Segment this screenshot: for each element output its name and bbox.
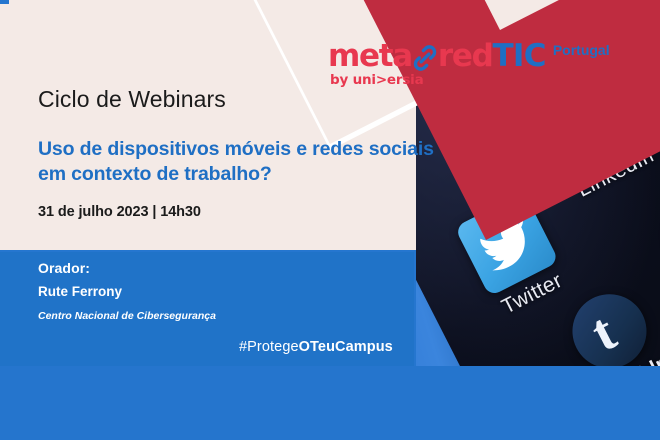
page-title: Uso de dispositivos móveis e redes socia…: [38, 137, 458, 187]
logo-meta-text: meta: [328, 38, 412, 74]
logo-byline: by uni>ersia: [330, 72, 424, 88]
webinar-poster: dia Twitter in LinkedIn: [0, 0, 660, 440]
tumblr-tile: t: [560, 281, 660, 366]
event-datetime: 31 de julho 2023 | 14h30: [38, 204, 201, 220]
campaign-hashtag: #ProtegeOTeuCampus: [239, 339, 393, 355]
hashtag-emphasis: OTeuCampus: [299, 339, 393, 355]
speaker-organization: Centro Nacional de Cibersegurança: [38, 310, 216, 322]
logo-red-text: red: [438, 38, 493, 74]
speaker-label: Orador:: [38, 260, 90, 276]
speaker-name: Rute Ferrony: [38, 284, 122, 299]
series-kicker: Ciclo de Webinars: [38, 86, 226, 113]
blue-background-lower: [0, 366, 660, 440]
logo-region-text: Portugal: [553, 42, 610, 58]
corner-accent-mark: [0, 0, 9, 4]
chain-link-icon: [412, 45, 438, 71]
logo-wordmark: meta red TIC Portugal: [328, 38, 610, 74]
tumblr-t-icon: t: [581, 300, 625, 363]
hashtag-prefix: #Protege: [239, 339, 299, 355]
logo-tic-text: TIC: [492, 38, 545, 74]
app-icon-tumblr: t Tumblr: [560, 281, 660, 366]
metaredtic-logo: meta red TIC Portugal by uni>ersia: [328, 38, 586, 94]
